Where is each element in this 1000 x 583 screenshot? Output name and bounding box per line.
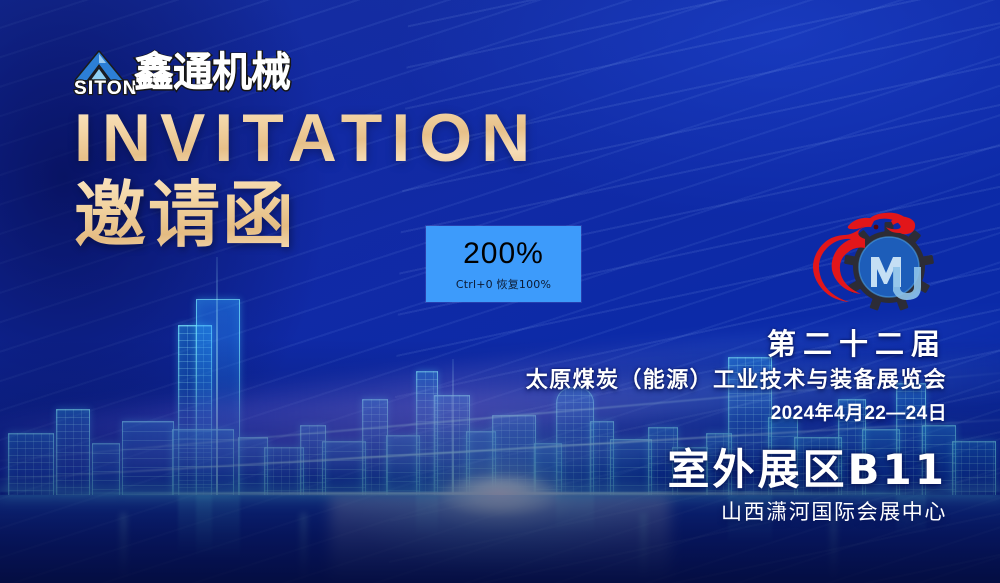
brand-chinese-name: 鑫通机械 (134, 52, 290, 92)
expo-emblem (805, 205, 950, 325)
venue-name: 山西潇河国际会展中心 (347, 500, 947, 525)
zoom-reset-hint: Ctrl+0 恢复100% (456, 279, 551, 290)
siton-mountain-logo-icon: SITON SITON (72, 47, 127, 97)
taiyuan-coal-expo-dragon-gear-emblem-icon (805, 205, 950, 325)
zoom-level-overlay[interactable]: 200% Ctrl+0 恢复100% (426, 226, 581, 302)
exhibition-info-block: 第二十二届 太原煤炭（能源）工业技术与装备展览会 2024年4月22—24日 室… (347, 327, 947, 525)
booth-number: 室外展区B11 (347, 447, 947, 493)
brand-latin-name: SITON (74, 79, 138, 98)
company-logo[interactable]: SITON SITON 鑫通机械 鑫通机械 (72, 47, 290, 97)
invitation-title-en: INVITATION (74, 104, 539, 172)
invitation-poster: SITON SITON 鑫通机械 鑫通机械 INVITATION 邀请函 (0, 0, 1000, 583)
zoom-level-value: 200% (463, 239, 544, 269)
exhibition-dates: 2024年4月22—24日 (347, 403, 947, 426)
exhibition-name: 太原煤炭（能源）工业技术与装备展览会 (347, 368, 947, 394)
exhibition-edition: 第二十二届 (347, 327, 947, 361)
